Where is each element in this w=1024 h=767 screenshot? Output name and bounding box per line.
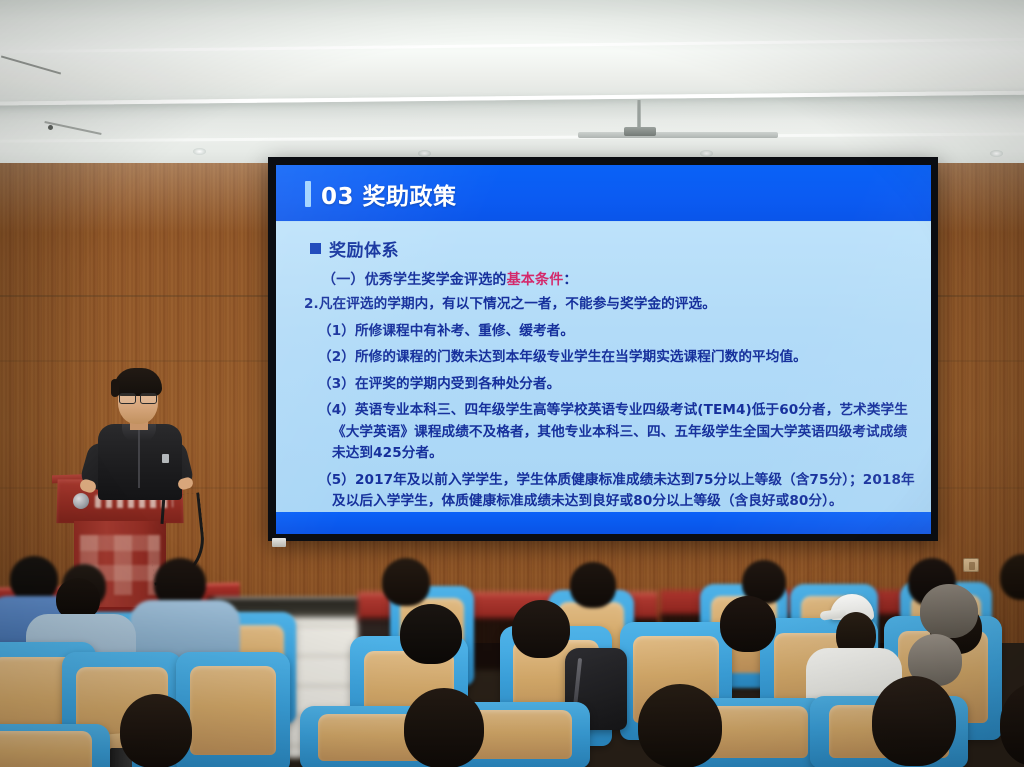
- slide-line-item-3: （3）在评奖的学期内受到各种处分者。: [318, 374, 915, 396]
- ceiling-wire-left: [1, 55, 61, 74]
- projector-mount-plate: [624, 127, 656, 136]
- subheading-row: （一）优秀学生奖学金评选的基本条件：: [322, 269, 915, 289]
- ceiling: [0, 0, 1024, 172]
- ceiling-downlight: [700, 150, 713, 157]
- slide-header-bar: 03 奖助政策: [276, 165, 931, 221]
- ceiling-wire-anchor: [48, 125, 53, 130]
- ceiling-downlight: [193, 148, 206, 155]
- seat[interactable]: [176, 652, 290, 767]
- audience-head: [382, 558, 430, 606]
- audience-head: [120, 694, 192, 767]
- ceiling-downlight: [418, 150, 431, 157]
- audience-head: [400, 604, 462, 664]
- speaker-badge: [162, 454, 169, 463]
- projector-rail: [578, 132, 778, 138]
- audience-head: [1000, 682, 1024, 766]
- audience-head: [720, 596, 776, 652]
- audience-head: [872, 676, 956, 766]
- audience-head: [404, 688, 484, 767]
- speaker-presenter: [82, 368, 194, 498]
- subheading-prefix: （一）优秀学生奖学金评选的: [322, 272, 507, 288]
- audience-head: [570, 562, 616, 608]
- subheading-suffix: ：: [563, 272, 577, 288]
- audience-head: [512, 600, 570, 658]
- speaker-hair: [114, 368, 162, 396]
- slide-footer-bar: [276, 512, 931, 534]
- presentation-slide: 03 奖助政策 奖励体系 （一）优秀学生奖学金评选的基本条件： 2.凡在评选的学…: [276, 165, 931, 534]
- slide-body: 奖励体系 （一）优秀学生奖学金评选的基本条件： 2.凡在评选的学期内，有以下情况…: [276, 222, 931, 512]
- audience-head: [638, 684, 722, 767]
- speaker-jacket-zipper: [138, 430, 140, 488]
- subheading-highlight: 基本条件: [507, 272, 564, 288]
- bullet-square-icon: [310, 243, 321, 254]
- ceiling-downlight: [990, 150, 1003, 157]
- lecture-hall-scene: 03 奖助政策 奖励体系 （一）优秀学生奖学金评选的基本条件： 2.凡在评选的学…: [0, 0, 1024, 767]
- seat[interactable]: [0, 724, 110, 767]
- slide-line-item-4: （4）英语专业本科三、四年级学生高等学校英语专业四级考试(TEM4)低于60分者…: [318, 400, 915, 465]
- section-heading-row: 奖励体系: [310, 236, 915, 261]
- section-heading: 奖励体系: [329, 236, 399, 261]
- audience-area: [0, 556, 1024, 767]
- slide-line-2: 2.凡在评选的学期内，有以下情况之一者，不能参与奖学金的评选。: [304, 294, 915, 316]
- header-accent-bar: [305, 181, 311, 207]
- audience-head: [920, 584, 978, 638]
- ceiling-cove-light-1: [0, 37, 1024, 54]
- slide-title: 03 奖助政策: [321, 177, 457, 211]
- slide-line-item-5: （5）2017年及以前入学学生，学生体质健康标准成绩未达到75分以上等级（含75…: [318, 470, 915, 513]
- projection-screen: 03 奖助政策 奖励体系 （一）优秀学生奖学金评选的基本条件： 2.凡在评选的学…: [268, 157, 938, 541]
- slide-line-item-1: （1）所修课程中有补考、重修、缓考者。: [318, 321, 915, 343]
- glasses-icon: [119, 393, 157, 402]
- slide-line-item-2: （2）所修的课程的门数未达到本年级专业学生在当学期实选课程门数的平均值。: [318, 347, 915, 369]
- audience-head: [1000, 554, 1024, 600]
